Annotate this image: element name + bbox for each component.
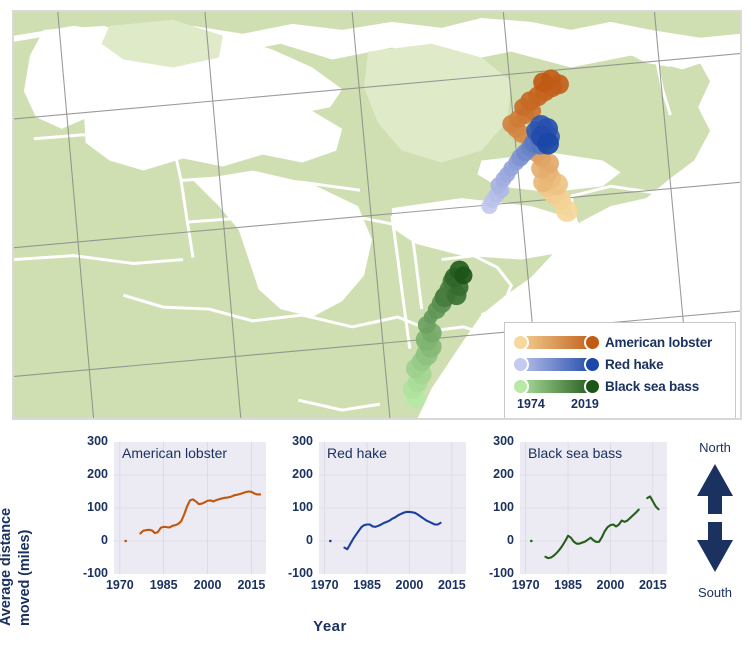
series-line xyxy=(545,510,638,559)
plot-area-red-hake xyxy=(319,442,466,574)
x-tick-label: 1985 xyxy=(554,578,582,592)
x-tick-label: 1970 xyxy=(512,578,540,592)
y-tick-label: 0 xyxy=(265,533,313,547)
south-label: South xyxy=(676,585,754,600)
x-tick-label: 2015 xyxy=(438,578,466,592)
plot-svg-black-sea-bass xyxy=(520,442,667,574)
legend-label-american-lobster: American lobster xyxy=(605,335,712,350)
legend-gradient-bar-american-lobster xyxy=(515,336,597,349)
y-tick-label: 300 xyxy=(265,434,313,448)
legend-dot-start-red-hake xyxy=(512,356,529,373)
chart-panel-american-lobster[interactable]: American lobster -1000100200300 19701985… xyxy=(60,442,270,602)
legend-dot-start-american-lobster xyxy=(512,334,529,351)
chart-panel-black-sea-bass[interactable]: Black sea bass -1000100200300 1970198520… xyxy=(466,442,671,602)
series-line xyxy=(140,492,260,534)
y-tick-label: 0 xyxy=(466,533,514,547)
black-sea-bass-point xyxy=(455,266,473,284)
chart-title-american-lobster: American lobster xyxy=(122,445,227,461)
y-tick-label: -100 xyxy=(60,566,108,580)
north-south-indicator: North South xyxy=(676,440,754,600)
y-tick-label: 0 xyxy=(60,533,108,547)
legend-gradient-bar-black-sea-bass xyxy=(515,380,597,393)
legend-label-black-sea-bass: Black sea bass xyxy=(605,379,699,394)
y-tick-label: -100 xyxy=(265,566,313,580)
series-origin-marker xyxy=(124,540,127,542)
x-tick-label: 2000 xyxy=(597,578,625,592)
x-axis-label: Year xyxy=(0,618,660,635)
series-origin-marker xyxy=(530,540,533,542)
red-hake-point xyxy=(537,133,559,155)
x-tick-label: 2015 xyxy=(639,578,667,592)
legend-gradient-bar-red-hake xyxy=(515,358,597,371)
plot-area-american-lobster xyxy=(114,442,266,574)
x-tick-label: 2015 xyxy=(237,578,265,592)
lobster-point xyxy=(533,72,553,92)
x-tick-label: 1970 xyxy=(106,578,134,592)
plot-svg-red-hake xyxy=(319,442,466,574)
legend-label-red-hake: Red hake xyxy=(605,357,663,372)
map-legend: American lobster Red hake Black sea bass… xyxy=(504,322,736,420)
series-origin-marker xyxy=(329,540,332,542)
legend-row-red-hake[interactable]: Red hake xyxy=(515,354,663,374)
double-arrow-icon xyxy=(691,462,739,574)
y-axis-label-line2: moved (miles) xyxy=(17,530,33,626)
y-tick-label: 300 xyxy=(466,434,514,448)
x-tick-label: 1985 xyxy=(150,578,178,592)
y-tick-label: 200 xyxy=(466,467,514,481)
x-tick-label: 2000 xyxy=(396,578,424,592)
legend-dot-end-red-hake xyxy=(584,356,601,373)
plot-svg-american-lobster xyxy=(114,442,266,574)
chart-title-black-sea-bass: Black sea bass xyxy=(528,445,622,461)
legend-year-start: 1974 xyxy=(517,397,545,411)
x-tick-label: 2000 xyxy=(194,578,222,592)
y-axis-label-line1: Average distance xyxy=(0,508,14,626)
legend-dot-end-black-sea-bass xyxy=(584,378,601,395)
y-tick-label: -100 xyxy=(466,566,514,580)
chart-title-red-hake: Red hake xyxy=(327,445,387,461)
y-tick-label: 100 xyxy=(60,500,108,514)
figure-root: American lobster Red hake Black sea bass… xyxy=(0,0,754,648)
legend-year-end: 2019 xyxy=(571,397,599,411)
legend-row-black-sea-bass[interactable]: Black sea bass xyxy=(515,376,699,396)
y-tick-label: 200 xyxy=(60,467,108,481)
map-panel: American lobster Red hake Black sea bass… xyxy=(12,10,742,420)
legend-dot-end-american-lobster xyxy=(584,334,601,351)
series-line xyxy=(344,512,440,549)
y-tick-label: 100 xyxy=(466,500,514,514)
x-tick-label: 1970 xyxy=(311,578,339,592)
legend-year-scale: 1974 2019 xyxy=(505,397,735,415)
legend-row-american-lobster[interactable]: American lobster xyxy=(515,332,712,352)
y-tick-label: 200 xyxy=(265,467,313,481)
north-label: North xyxy=(676,440,754,455)
timeseries-charts: Average distance moved (miles) American … xyxy=(0,428,754,648)
y-tick-label: 100 xyxy=(265,500,313,514)
plot-area-black-sea-bass xyxy=(520,442,667,574)
chart-panel-red-hake[interactable]: Red hake -1000100200300 1970198520002015 xyxy=(265,442,470,602)
x-tick-label: 1985 xyxy=(353,578,381,592)
legend-dot-start-black-sea-bass xyxy=(512,378,529,395)
y-tick-label: 300 xyxy=(60,434,108,448)
y-axis-label: Average distance moved (miles) xyxy=(0,468,58,618)
